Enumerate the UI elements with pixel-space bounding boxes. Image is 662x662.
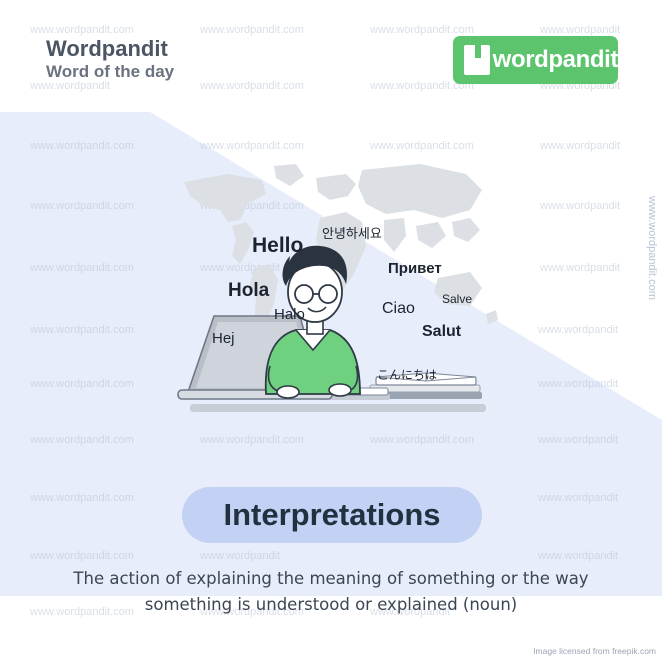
- greeting-hej: Hej: [212, 330, 235, 347]
- word-pill: Interpretations: [182, 487, 482, 543]
- watermark: www.wordpandit.com: [200, 80, 304, 92]
- definition-line-1: The action of explaining the meaning of …: [0, 566, 662, 592]
- greeting-japanese: こんにちは: [377, 366, 437, 383]
- watermark: www.wordpandit.com: [200, 24, 304, 36]
- watermark: www.wordpandit: [540, 24, 620, 36]
- greeting-hello: Hello: [252, 234, 303, 258]
- watermark: www.wordpandit: [540, 140, 620, 152]
- greeting-hola: Hola: [228, 280, 269, 302]
- watermark: www.wordpandit.com: [30, 24, 134, 36]
- image-credit: Image licensed from freepik.com: [533, 646, 656, 656]
- greeting-russian: Привет: [388, 260, 442, 277]
- header: Wordpandit Word of the day: [46, 36, 174, 83]
- greeting-salut: Salut: [422, 323, 461, 341]
- word-of-the-day-card: Hello 안녕하세요 Привет Hola Halo Ciao Salve …: [0, 0, 662, 662]
- page-subtitle: Word of the day: [46, 61, 174, 83]
- watermark-side: www.wordpandit.com: [646, 196, 658, 300]
- watermark: www.wordpandit.com: [200, 140, 304, 152]
- definition-line-2: something is understood or explained (no…: [0, 592, 662, 618]
- book-icon: [464, 45, 490, 75]
- watermark: www.wordpandit: [540, 262, 620, 274]
- greeting-halo: Halo: [274, 306, 305, 323]
- watermark: www.wordpandit.com: [370, 140, 474, 152]
- wordpandit-logo[interactable]: wordpandit: [453, 36, 618, 84]
- watermark: www.wordpandit.com: [370, 24, 474, 36]
- logo-text: wordpandit: [493, 46, 618, 74]
- desk-surface: [190, 404, 486, 412]
- greeting-ciao: Ciao: [382, 300, 415, 318]
- word-of-the-day: Interpretations: [223, 497, 440, 533]
- watermark: www.wordpandit: [540, 200, 620, 212]
- watermark: www.wordpandit: [538, 324, 618, 336]
- definition-text: The action of explaining the meaning of …: [0, 566, 662, 617]
- greeting-salve: Salve: [442, 292, 472, 306]
- brand-title: Wordpandit: [46, 36, 174, 61]
- greeting-korean: 안녕하세요: [322, 223, 382, 242]
